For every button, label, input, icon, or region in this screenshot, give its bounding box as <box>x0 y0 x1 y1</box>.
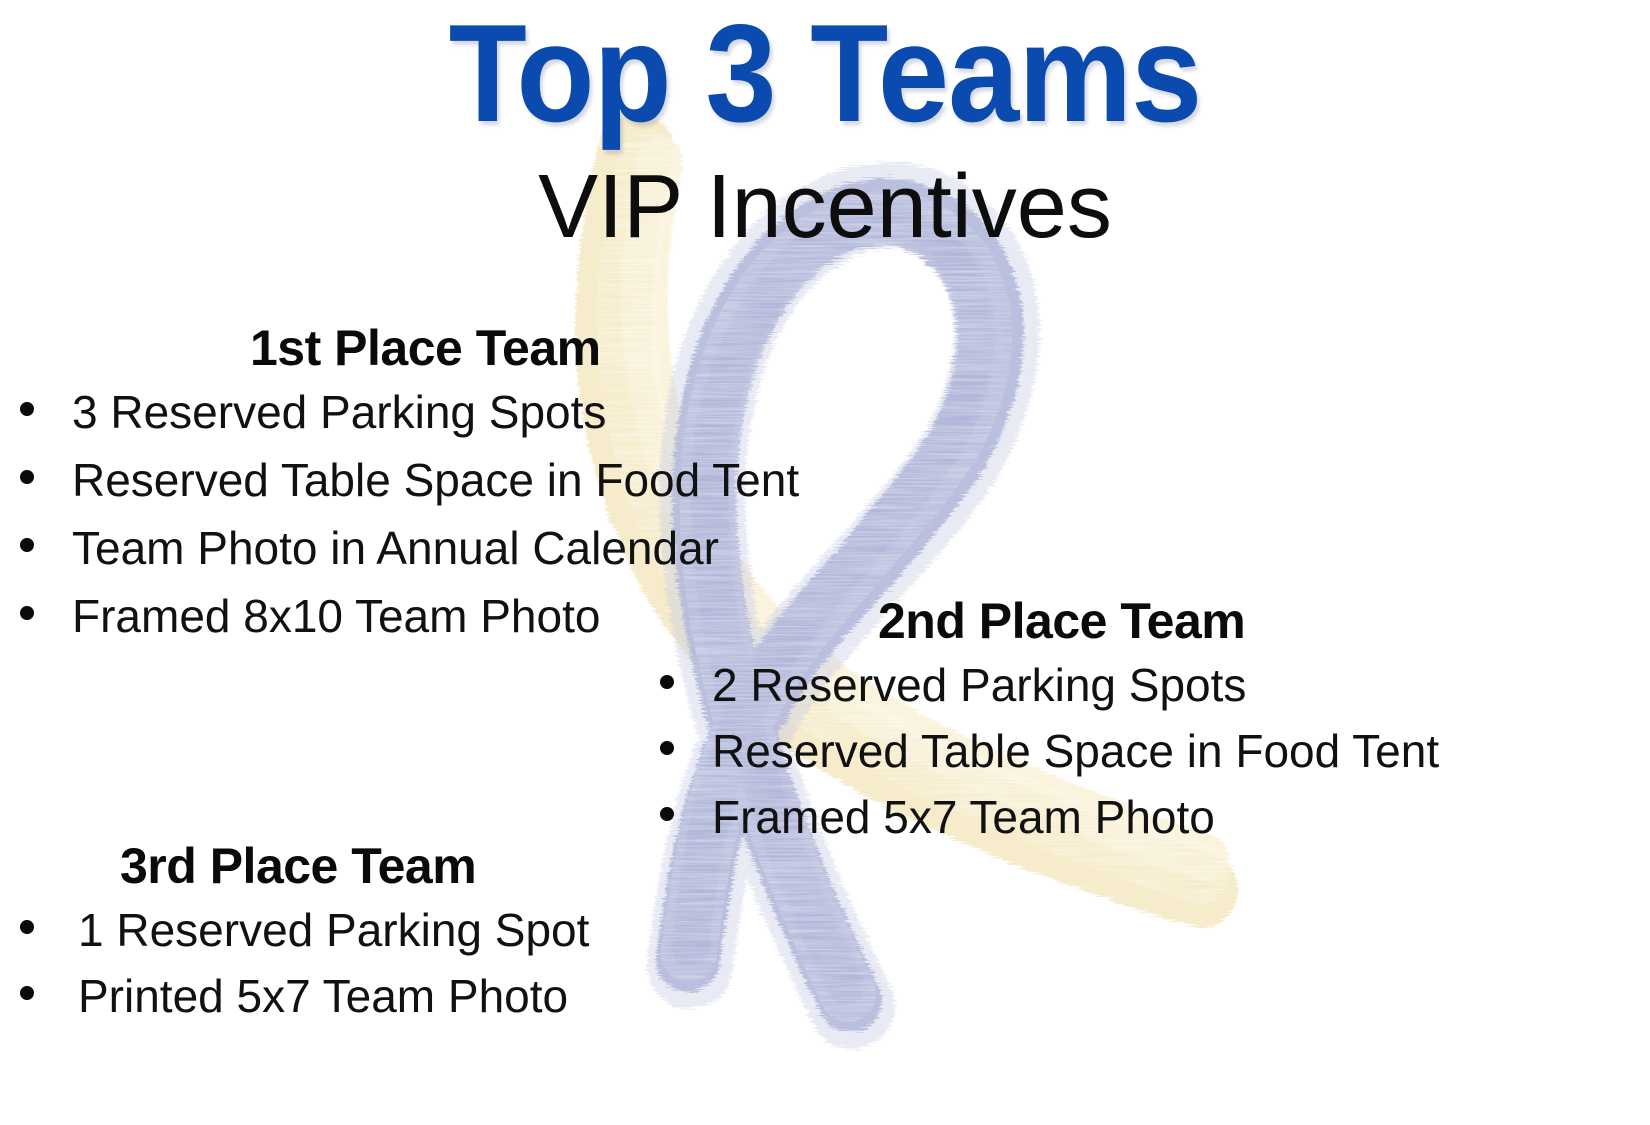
list-item: Reserved Table Space in Food Tent <box>660 728 1560 774</box>
bullet-icon <box>660 807 674 821</box>
bullet-icon <box>20 606 34 620</box>
award-heading-second-place: 2nd Place Team <box>660 595 1560 648</box>
bullet-icon <box>20 470 34 484</box>
list-item: Framed 5x7 Team Photo <box>660 794 1560 840</box>
list-item: Printed 5x7 Team Photo <box>20 973 780 1019</box>
award-item-label: Reserved Table Space in Food Tent <box>72 457 799 503</box>
list-item: Reserved Table Space in Food Tent <box>20 457 920 503</box>
list-item: Team Photo in Annual Calendar <box>20 525 920 571</box>
list-item: 1 Reserved Parking Spot <box>20 907 780 953</box>
bullet-icon <box>20 986 34 1000</box>
poster-canvas: Top 3 Teams VIP Incentives 1st Place Tea… <box>0 0 1650 1125</box>
award-item-label: Team Photo in Annual Calendar <box>72 525 719 571</box>
award-item-label: 2 Reserved Parking Spots <box>712 662 1246 708</box>
award-list-third-place: 1 Reserved Parking Spot Printed 5x7 Team… <box>20 907 780 1019</box>
award-list-second-place: 2 Reserved Parking Spots Reserved Table … <box>660 662 1560 840</box>
award-block-third-place: 3rd Place Team 1 Reserved Parking Spot P… <box>20 840 780 1039</box>
page-subtitle: VIP Incentives <box>0 162 1650 252</box>
award-heading-third-place: 3rd Place Team <box>20 840 780 893</box>
award-item-label: 1 Reserved Parking Spot <box>78 907 589 953</box>
award-item-label: Printed 5x7 Team Photo <box>78 973 568 1019</box>
bullet-icon <box>20 538 34 552</box>
bullet-icon <box>20 920 34 934</box>
award-heading-first-place: 1st Place Team <box>20 322 920 375</box>
award-block-second-place: 2nd Place Team 2 Reserved Parking Spots … <box>660 595 1560 860</box>
award-item-label: Reserved Table Space in Food Tent <box>712 728 1439 774</box>
list-item: 3 Reserved Parking Spots <box>20 389 920 435</box>
page-title: Top 3 Teams <box>66 8 1584 140</box>
bullet-icon <box>660 741 674 755</box>
poster-header: Top 3 Teams VIP Incentives <box>0 8 1650 252</box>
award-block-first-place: 1st Place Team 3 Reserved Parking Spots … <box>20 322 920 639</box>
list-item: 2 Reserved Parking Spots <box>660 662 1560 708</box>
award-item-label: Framed 8x10 Team Photo <box>72 593 600 639</box>
award-item-label: 3 Reserved Parking Spots <box>72 389 606 435</box>
award-item-label: Framed 5x7 Team Photo <box>712 794 1215 840</box>
bullet-icon <box>20 402 34 416</box>
bullet-icon <box>660 675 674 689</box>
